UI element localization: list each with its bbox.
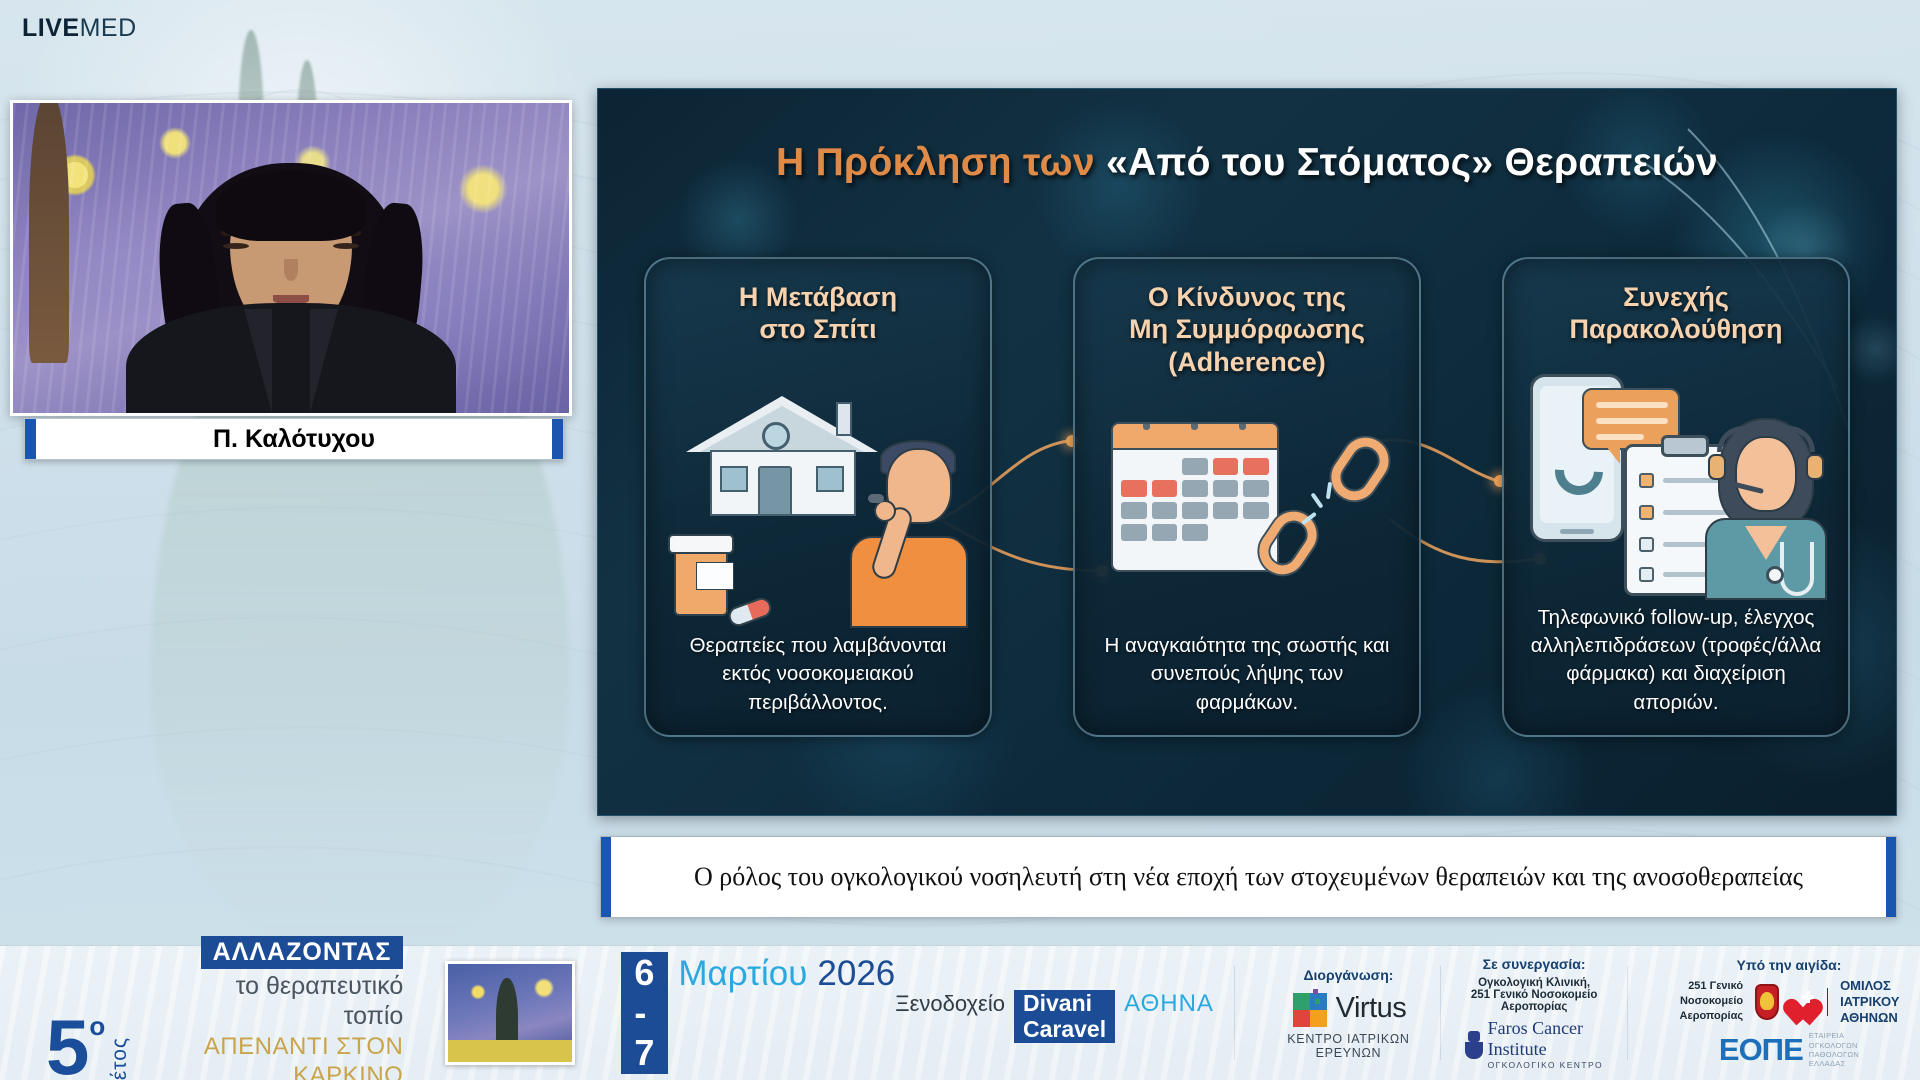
speaker-name-plate: Π. Καλότυχου — [24, 418, 564, 460]
speaker-name-text: Π. Καλότυχου — [213, 425, 375, 454]
footer-divider-2 — [1440, 966, 1441, 1060]
hospital-251-line-1: 251 Γενικό Νοσοκομείο — [1658, 979, 1743, 1009]
slide-title: Η Πρόκληση των «Από του Στόματος» Θεραπε… — [598, 141, 1896, 185]
slide-title-orange: Η Πρόκληση των — [776, 141, 1095, 184]
presentation-slide[interactable]: Η Πρόκληση των «Από του Στόματος» Θεραπε… — [597, 88, 1897, 816]
venue-prefix: Ξενοδοχείο — [895, 992, 1005, 1017]
footer-collaboration: Σε συνεργασία: Ογκολογική Κλινική, 251 Γ… — [1461, 946, 1607, 1080]
livemed-logo: LIVEMED — [22, 16, 137, 41]
collaboration-line-1: Ογκολογική Κλινική, — [1461, 977, 1607, 989]
logo-med-text: MED — [80, 14, 137, 42]
eope-subtitle: ΕΤΑΙΡΕΙΑ ΟΓΚΟΛΟΓΩΝ ΠΑΘΟΛΟΓΩΝ ΕΛΛΑΔΑΣ — [1809, 1031, 1859, 1069]
faros-subtitle: ΟΓΚΟΛΟΓΙΚΟ ΚΕΝΤΡΟ — [1488, 1060, 1608, 1070]
theme-line-2: το θεραπευτικό τοπίο — [178, 972, 403, 1031]
omilos-line-1: ΟΜΙΛΟΣ ΙΑΤΡΙΚΟΥ — [1840, 978, 1920, 1009]
card-1-title: Η Μετάβαση στο Σπίτι — [739, 281, 897, 346]
house-medication-icon — [662, 352, 974, 628]
card-2-title-line2: Μη Συμμόρφωσης — [1129, 313, 1365, 345]
faros-lighthouse-icon — [1461, 1027, 1481, 1061]
speaker-video-tile[interactable] — [10, 100, 572, 416]
card-1-body: Θεραπείες που λαμβάνονται εκτός νοσοκομε… — [662, 632, 974, 717]
event-footer: 5 ο έτος ΑΛΛΑΖΟΝΤΑΣ το θεραπευτικό τοπίο… — [0, 945, 1920, 1080]
edition-number: 5 — [46, 1014, 87, 1080]
calendar-broken-chain-icon — [1091, 384, 1403, 628]
eope-sub-line-2: ΟΓΚΟΛΟΓΩΝ — [1809, 1041, 1859, 1050]
hospital-251-label: 251 Γενικό Νοσοκομείο Αεροπορίας — [1658, 979, 1743, 1024]
omilos-line-2: ΑΘΗΝΩΝ — [1840, 1010, 1920, 1026]
event-month: Μαρτίου — [678, 954, 807, 993]
event-days: 6 - 7 — [621, 952, 668, 1075]
collaboration-line-2: 251 Γενικό Νοσοκομείο Αεροπορίας — [1461, 989, 1607, 1013]
eope-sub-line-1: ΕΤΑΙΡΕΙΑ — [1809, 1031, 1859, 1040]
logo-live-text: LIVE — [22, 14, 80, 42]
capsule-icon — [726, 595, 774, 629]
card-3-title-line1: Συνεχής — [1570, 281, 1783, 313]
card-adherence-risk[interactable]: Ο Κίνδυνος της Μη Συμμόρφωσης (Adherence… — [1073, 257, 1421, 737]
edition-word: έτος — [108, 1037, 132, 1080]
event-year: 2026 — [817, 954, 895, 993]
theme-line-1: ΑΛΛΑΖΟΝΤΑΣ — [201, 936, 404, 970]
hospital-251-line-2: Αεροπορίας — [1658, 1009, 1743, 1024]
footer-theme: ΑΛΛΑΖΟΝΤΑΣ το θεραπευτικό τοπίο ΑΠΕΝΑΝΤΙ… — [132, 946, 403, 1080]
venue-city: ΑΘΗΝΑ — [1124, 991, 1214, 1018]
card-3-title: Συνεχής Παρακολούθηση — [1570, 281, 1783, 346]
organizer-label: Διοργάνωση: — [1277, 967, 1421, 983]
broken-chain-icon — [1261, 436, 1389, 576]
theme-line-3: ΑΠΕΝΑΝΤΙ ΣΤΟΝ ΚΑΡΚΙΝΟ — [178, 1033, 403, 1080]
card-2-title-line1: Ο Κίνδυνος της — [1129, 281, 1365, 313]
eope-sub-line-4: ΕΛΛΑΔΑΣ — [1809, 1059, 1859, 1068]
footer-edition: 5 ο έτος — [0, 946, 132, 1080]
card-3-body: Τηλεφωνικό follow-up, έλεγχος αλληλεπιδρ… — [1520, 604, 1832, 717]
eope-logo-text: ΕΟΠΕ — [1719, 1034, 1803, 1065]
nurse-headset-icon — [1702, 414, 1830, 600]
venue-hotel: Divani Caravel — [1014, 990, 1115, 1044]
omilos-iatrikou-label: ΟΜΙΛΟΣ ΙΑΤΡΙΚΟΥ ΑΘΗΝΩΝ — [1840, 978, 1920, 1025]
card-2-title-line3: (Adherence) — [1129, 346, 1365, 378]
session-title-bar: Ο ρόλος του ογκολογικού νοσηλευτή στη νέ… — [600, 836, 1897, 918]
speaker-person — [126, 163, 456, 413]
heart-cross-icon — [1791, 987, 1815, 1017]
footer-date-venue: 6 - 7 Μαρτίου 2026 Ξενοδοχείο Divani Car… — [621, 946, 1214, 1080]
footer-auspices: Υπό την αιγίδα: 251 Γενικό Νοσοκομείο Αε… — [1658, 946, 1920, 1080]
patient-icon — [840, 438, 970, 628]
footer-divider-1 — [1234, 966, 1235, 1060]
card-2-title: Ο Κίνδυνος της Μη Συμμόρφωσης (Adherence… — [1129, 281, 1365, 378]
card-2-body: Η αναγκαιότητα της σωστής και συνεπούς λ… — [1091, 632, 1403, 717]
footer-artwork — [403, 946, 575, 1080]
card-continuous-monitoring[interactable]: Συνεχής Παρακολούθηση — [1502, 257, 1850, 737]
organizer-name: Virtus — [1336, 992, 1407, 1025]
card-1-title-line2: στο Σπίτι — [739, 313, 897, 345]
footer-organizer: Διοργάνωση: Virtus ΚΕΝΤΡΟ ΙΑΤΡΙΚΩΝ ΕΡΕΥΝ… — [1277, 946, 1421, 1080]
video-tree-element — [29, 100, 69, 363]
telemonitoring-icon — [1520, 352, 1832, 600]
card-3-title-line2: Παρακολούθηση — [1570, 313, 1783, 345]
organizer-subtitle: ΚΕΝΤΡΟ ΙΑΤΡΙΚΩΝ ΕΡΕΥΝΩΝ — [1277, 1032, 1421, 1060]
faros-name: Faros Cancer Institute — [1488, 1018, 1608, 1060]
session-title-text: Ο ρόλος του ογκολογικού νοσηλευτή στη νέ… — [660, 859, 1837, 894]
edition-ordinal: ο — [89, 1011, 105, 1042]
slide-cards-row: Η Μετάβαση στο Σπίτι — [644, 257, 1850, 737]
card-1-title-line1: Η Μετάβαση — [739, 281, 897, 313]
eope-sub-line-3: ΠΑΘΟΛΟΓΩΝ — [1809, 1050, 1859, 1059]
slide-title-white: «Από του Στόματος» Θεραπειών — [1106, 141, 1718, 184]
card-home-transition[interactable]: Η Μετάβαση στο Σπίτι — [644, 257, 992, 737]
footer-divider-3 — [1627, 966, 1628, 1060]
calendar-icon — [1111, 422, 1279, 572]
virtus-logo-icon — [1291, 989, 1331, 1029]
collaboration-label: Σε συνεργασία: — [1461, 956, 1607, 972]
air-force-crest-icon — [1755, 984, 1779, 1020]
auspices-label: Υπό την αιγίδα: — [1658, 957, 1920, 973]
